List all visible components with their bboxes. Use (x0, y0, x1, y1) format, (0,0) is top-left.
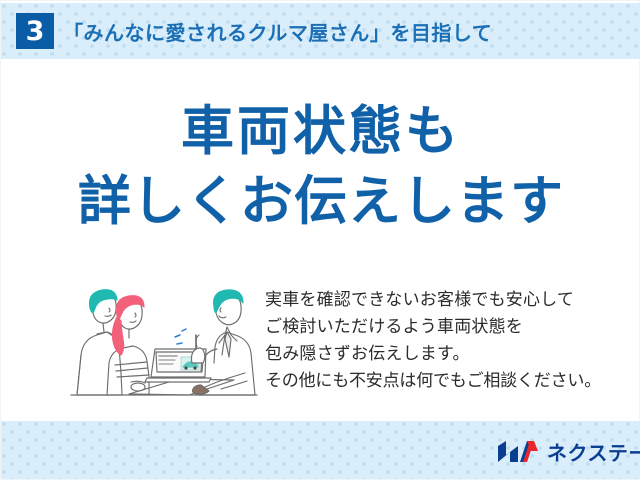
nextage-n-logo-icon (496, 439, 540, 464)
step-number-badge: 3 (16, 13, 54, 49)
body-line-2: ご検討いただけるよう車両状態を (265, 314, 609, 341)
promo-banner: 3 「みんなに愛されるクルマ屋さん」を目指して 車両状態も 詳しくお伝えします (0, 0, 640, 480)
headline-line-1: 車両状態も (1, 97, 640, 167)
header-title: 「みんなに愛されるクルマ屋さん」を目指して (63, 17, 492, 46)
headline-line-2: 詳しくお伝えします (1, 167, 640, 237)
body-copy: 実車を確認できないお客様でも安心して ご検討いただけるよう車両状態を 包み隠さず… (265, 287, 609, 395)
brand-logo: ネクステージ (496, 437, 640, 466)
body-line-3: 包み隠さずお伝えします。 (265, 341, 609, 368)
consultation-illustration (59, 277, 264, 397)
body-line-4: その他にも不安点は何でもご相談ください。 (265, 368, 609, 395)
headline-block: 車両状態も 詳しくお伝えします (1, 97, 640, 237)
body-line-1: 実車を確認できないお客様でも安心して (265, 287, 609, 314)
brand-wordmark: ネクステージ (547, 437, 640, 466)
